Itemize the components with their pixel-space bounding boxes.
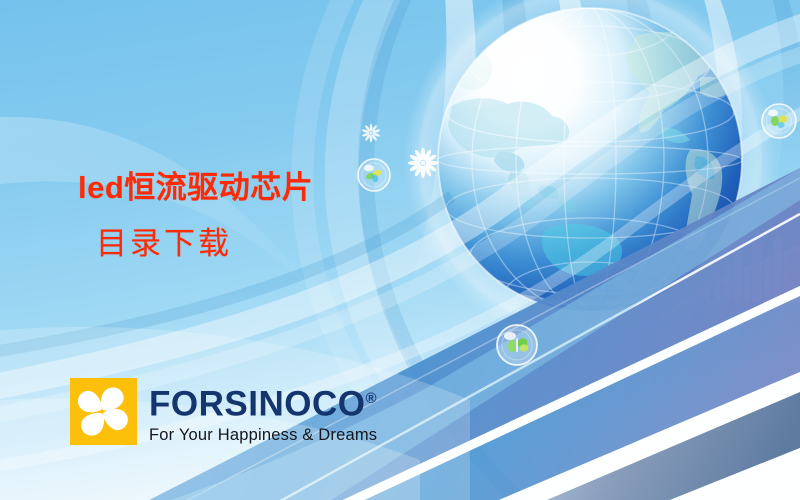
sparkle-flower-icon: [362, 124, 381, 143]
bubble-icon: [497, 325, 537, 365]
headline: led恒流驱动芯片 目录下载: [78, 160, 418, 272]
headline-line-1: led恒流驱动芯片: [78, 160, 418, 216]
globe-latitude-lines: [438, 0, 742, 330]
registered-trademark-icon: ®: [365, 390, 377, 407]
headline-line-2: 目录下载: [96, 216, 418, 272]
top-band-group: [406, 0, 800, 300]
pinwheel-flower-icon: [70, 378, 137, 445]
globe-icon: [408, 0, 764, 330]
city-skyline-icon: [705, 230, 800, 302]
globe-longitude-lines: [438, 8, 742, 312]
logo-company-name: FORSINOCO®: [149, 380, 377, 424]
globe-halo: [404, 0, 776, 346]
logo-text-block: FORSINOCO® For Your Happiness & Dreams: [149, 378, 377, 445]
logo-tagline: For Your Happiness & Dreams: [149, 425, 377, 445]
globe-continents: [444, 23, 764, 290]
company-logo: FORSINOCO® For Your Happiness & Dreams: [70, 378, 377, 445]
promo-banner: led恒流驱动芯片 目录下载 FORSINOCO® For Your Happi…: [0, 0, 800, 500]
skyline-beams: [660, 248, 800, 330]
bubble-icon: [762, 104, 796, 138]
